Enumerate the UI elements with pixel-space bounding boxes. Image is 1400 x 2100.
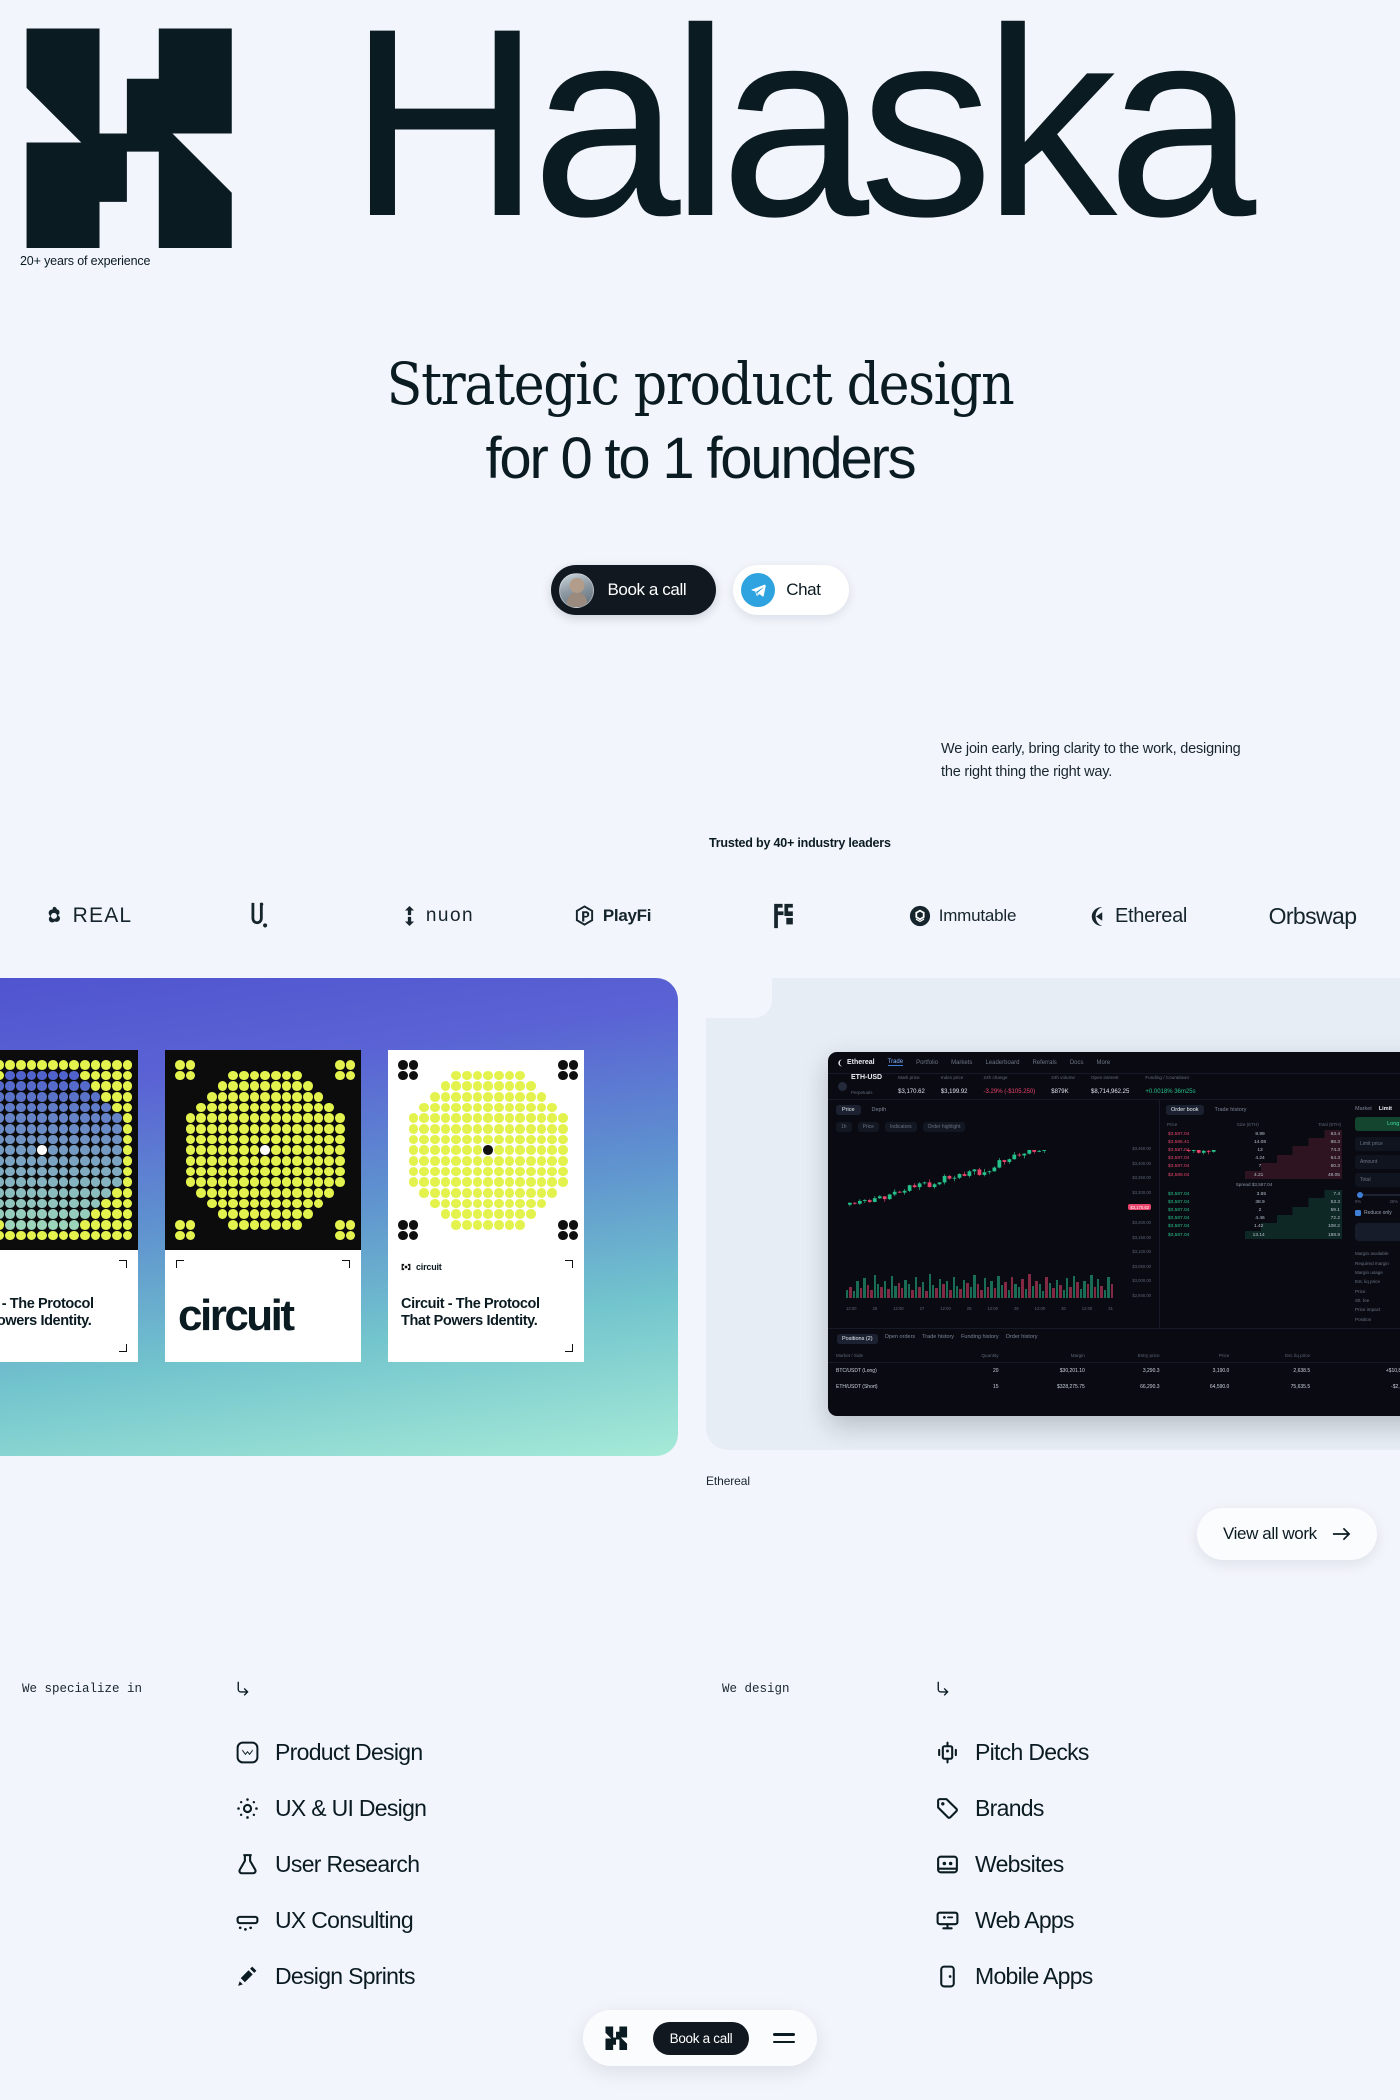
stat-index-price: Index price$3,199.92 [941, 1075, 968, 1098]
tab-price[interactable]: Price [836, 1105, 861, 1115]
amount-field[interactable]: Amount0.00 [1355, 1155, 1400, 1169]
dot [112, 1156, 122, 1166]
tool-order-highlight[interactable]: Order highlight [923, 1122, 966, 1132]
service-item-web-apps[interactable]: Web Apps [934, 1892, 1400, 1948]
tab-trade-history[interactable]: Trade history [1210, 1105, 1252, 1115]
dot [271, 1220, 281, 1230]
dot [101, 1103, 111, 1113]
dot [16, 1199, 26, 1209]
table-header-cell: Market / Side [828, 1349, 941, 1363]
dot [515, 1092, 525, 1102]
dot [228, 1220, 238, 1230]
dot [123, 1092, 133, 1102]
dot [260, 1103, 270, 1113]
dot [547, 1231, 557, 1241]
summary-row: Price [1355, 1287, 1400, 1296]
dot [494, 1177, 504, 1187]
dot [451, 1231, 461, 1241]
volume-bar [984, 1278, 986, 1298]
dot [282, 1167, 292, 1177]
tab-trade-history[interactable]: Trade history [922, 1334, 954, 1344]
dashboard-nav-markets[interactable]: Markets [951, 1060, 972, 1066]
dot [91, 1209, 101, 1219]
dot [5, 1145, 15, 1155]
tab-market[interactable]: Market [1355, 1106, 1372, 1112]
chat-button[interactable]: Chat [733, 565, 848, 615]
dot [123, 1188, 133, 1198]
table-row[interactable]: BTC/USDT (Long) 20 $30,201.10 3,290.3 3,… [828, 1363, 1400, 1380]
volume-bar [860, 1288, 862, 1298]
dot [483, 1177, 493, 1187]
dot [5, 1209, 15, 1219]
ethereal-crescent-icon [837, 1059, 844, 1067]
dot [207, 1135, 217, 1145]
side-toggle: Long Short [1355, 1117, 1400, 1131]
volume-bar [1056, 1280, 1058, 1298]
dot [430, 1220, 440, 1230]
dot [5, 1071, 15, 1081]
order-price: $3,587.04 [1168, 1132, 1189, 1137]
dot [558, 1156, 568, 1166]
dot [80, 1124, 90, 1134]
dot [558, 1092, 568, 1102]
headline-line-1: Strategic product design [70, 348, 1330, 420]
dot [48, 1167, 58, 1177]
dot [186, 1113, 196, 1123]
dot [292, 1177, 302, 1187]
reduce-only-checkbox[interactable]: Reduce only [1355, 1210, 1400, 1216]
client-logo-u [175, 901, 350, 931]
dot [250, 1220, 260, 1230]
dot [314, 1081, 324, 1091]
dot [569, 1124, 579, 1134]
dot [196, 1231, 206, 1241]
dot [515, 1060, 525, 1070]
dot [196, 1092, 206, 1102]
volume-bar [1025, 1289, 1027, 1298]
dot [314, 1103, 324, 1113]
dot [419, 1209, 429, 1219]
dot [558, 1071, 568, 1081]
dot [303, 1188, 313, 1198]
dot [483, 1220, 493, 1230]
volume-bar [884, 1281, 886, 1298]
dot [569, 1177, 579, 1187]
dot [37, 1177, 47, 1187]
services-section: We specialize in Product Design UX & UI … [0, 1680, 1400, 2004]
dot [409, 1081, 419, 1091]
dot [430, 1103, 440, 1113]
dot [48, 1103, 58, 1113]
tab-depth[interactable]: Depth [866, 1105, 893, 1115]
chat-label: Chat [786, 580, 820, 600]
dot [37, 1135, 47, 1145]
dot [69, 1167, 79, 1177]
dot [239, 1060, 249, 1070]
x-axis: 12:0025 12:0027 12:0028 12:0029 12:0030 … [846, 1306, 1113, 1311]
total-field[interactable]: Total0.00 [1355, 1173, 1400, 1187]
bottom-nav-book-button[interactable]: Book a call [653, 2022, 750, 2055]
dashboard-nav-referrals[interactable]: Referrals [1032, 1060, 1056, 1066]
dot [515, 1231, 525, 1241]
tab-open-orders[interactable]: Open orders [885, 1334, 916, 1344]
dot [451, 1081, 461, 1091]
dot [547, 1103, 557, 1113]
dot [292, 1081, 302, 1091]
dot [27, 1135, 37, 1145]
dot [483, 1124, 493, 1134]
dot [462, 1060, 472, 1070]
order-book-row[interactable]: $3,587.04 8.99 63.4 [1166, 1130, 1342, 1138]
volume-bar [1090, 1275, 1092, 1298]
dashboard-nav-docs[interactable]: Docs [1070, 1060, 1084, 1066]
dot [409, 1103, 419, 1113]
dot [228, 1103, 238, 1113]
dot [27, 1177, 37, 1187]
work-card-ethereal[interactable]: Ethereal Trade Portfolio Markets Leaderb… [706, 978, 1400, 1450]
dot [419, 1081, 429, 1091]
dot [515, 1081, 525, 1091]
dot [16, 1167, 26, 1177]
dot [250, 1145, 260, 1155]
side-long-button[interactable]: Long [1355, 1117, 1400, 1131]
dot [80, 1220, 90, 1230]
dot [207, 1156, 217, 1166]
dot [59, 1081, 69, 1091]
dot [398, 1220, 408, 1230]
dot [419, 1092, 429, 1102]
size-slider[interactable] [1357, 1194, 1400, 1196]
service-item-brands[interactable]: Brands [934, 1780, 1400, 1836]
arrow-turn-down-right-icon [934, 1680, 1400, 1698]
dot [346, 1220, 356, 1230]
dot [101, 1220, 111, 1230]
dot [123, 1156, 133, 1166]
dashboard-nav-leaderboard[interactable]: Leaderboard [985, 1060, 1019, 1066]
dot [505, 1199, 515, 1209]
dot [0, 1156, 4, 1166]
dot [282, 1188, 292, 1198]
dot [123, 1060, 133, 1070]
dot [409, 1071, 419, 1081]
order-size: 14.08 [1254, 1140, 1266, 1145]
summary-label: Price impact [1355, 1307, 1380, 1312]
dot [282, 1199, 292, 1209]
dot [27, 1060, 37, 1070]
dot [112, 1145, 122, 1155]
tool-price[interactable]: Price [858, 1122, 879, 1132]
dot [483, 1209, 493, 1219]
dot [451, 1145, 461, 1155]
volume-bar [1001, 1285, 1003, 1298]
dot [0, 1145, 4, 1155]
volume-bar [1049, 1283, 1051, 1298]
service-item-websites[interactable]: Websites [934, 1836, 1400, 1892]
dot [409, 1209, 419, 1219]
dot [16, 1177, 26, 1187]
dot [175, 1177, 185, 1187]
cell-price: 3,190.0 [1168, 1363, 1238, 1380]
dot [91, 1167, 101, 1177]
dot [335, 1156, 345, 1166]
dot [186, 1199, 196, 1209]
dot [218, 1145, 228, 1155]
dot [494, 1060, 504, 1070]
dot [218, 1156, 228, 1166]
dot [441, 1156, 451, 1166]
circuit-mark-icon [401, 1262, 411, 1272]
volume-bar [956, 1286, 958, 1298]
dot [271, 1199, 281, 1209]
dot [228, 1081, 238, 1091]
dot [419, 1188, 429, 1198]
order-size: 4.46 [1255, 1216, 1264, 1221]
tab-limit[interactable]: Limit [1379, 1106, 1392, 1112]
dot [5, 1188, 15, 1198]
dot [515, 1124, 525, 1134]
hamburger-menu-icon[interactable] [773, 2033, 795, 2043]
dot [547, 1209, 557, 1219]
dot [537, 1167, 547, 1177]
volume-bar [880, 1287, 882, 1298]
dot [473, 1124, 483, 1134]
order-size: 3.65 [1257, 1192, 1266, 1197]
arrow-right-icon [1332, 1526, 1351, 1542]
dot [314, 1156, 324, 1166]
order-total: 88.3 [1331, 1140, 1340, 1145]
dot [0, 1188, 4, 1198]
dot [207, 1231, 217, 1241]
table-row[interactable]: ETH/USDT (Short) 15 $328,275.75 66,290.3… [828, 1379, 1400, 1395]
work-caption: Ethereal [706, 1474, 750, 1488]
order-size: 13.14 [1253, 1233, 1265, 1238]
poster-group: circuit Circuit - The Protocol That Powe… [0, 1050, 584, 1362]
order-book-row[interactable]: $3,585.41 14.08 88.3 [1166, 1138, 1342, 1146]
limit-price-field[interactable]: Limit price0.00 [1355, 1137, 1400, 1151]
order-total: 7.4 [1333, 1192, 1340, 1197]
summary-label: Margin usage [1355, 1270, 1383, 1275]
dot [303, 1060, 313, 1070]
service-item-user-research[interactable]: User Research [234, 1836, 700, 1892]
dot [175, 1167, 185, 1177]
volume-bar [853, 1291, 855, 1298]
tool-indicators[interactable]: Indicators [885, 1122, 917, 1132]
dot [207, 1092, 217, 1102]
dashboard-nav-more[interactable]: More [1096, 1060, 1110, 1066]
dot [494, 1145, 504, 1155]
nuon-arrows-icon [401, 906, 418, 926]
dashboard-nav-portfolio[interactable]: Portfolio [916, 1060, 938, 1066]
dot [441, 1124, 451, 1134]
dot [303, 1092, 313, 1102]
dot [123, 1220, 133, 1230]
dot [123, 1177, 133, 1187]
dot [303, 1071, 313, 1081]
dot [37, 1167, 47, 1177]
dot [271, 1209, 281, 1219]
volume-bar [997, 1276, 999, 1298]
cell-price: 64,590.0 [1168, 1379, 1238, 1395]
dot [123, 1113, 133, 1123]
dot [186, 1188, 196, 1198]
tab-order-book[interactable]: Order book [1166, 1105, 1204, 1115]
dot [314, 1124, 324, 1134]
dot [69, 1081, 79, 1091]
dot [101, 1113, 111, 1123]
dot [207, 1188, 217, 1198]
services-column-design: We design Pitch Decks Brands [700, 1680, 1400, 2004]
dot [505, 1220, 515, 1230]
dot [207, 1220, 217, 1230]
cell-entry: 66,290.3 [1093, 1379, 1168, 1395]
volume-bar [911, 1290, 913, 1298]
dot [239, 1220, 249, 1230]
dot [48, 1209, 58, 1219]
dot [462, 1199, 472, 1209]
dot [441, 1199, 451, 1209]
dot [101, 1167, 111, 1177]
service-item-ux-consulting[interactable]: UX Consulting [234, 1892, 700, 1948]
tab-order-history[interactable]: Order history [1006, 1334, 1038, 1344]
work-card-circuit[interactable]: circuit Circuit - The Protocol That Powe… [0, 978, 678, 1456]
dot [462, 1177, 472, 1187]
dot [505, 1060, 515, 1070]
dot [175, 1124, 185, 1134]
volume-bar [915, 1277, 917, 1298]
service-item-product-design[interactable]: Product Design [234, 1724, 700, 1780]
dot [303, 1231, 313, 1241]
tab-funding-history[interactable]: Funding history [961, 1334, 999, 1344]
dot [419, 1135, 429, 1145]
poster-title: Circuit - The Protocol That Powers Ident… [0, 1296, 125, 1330]
dot [526, 1220, 536, 1230]
volume-bar [942, 1284, 944, 1298]
poster-body: circuit Circuit - The Protocol That Powe… [388, 1250, 584, 1362]
dot [346, 1209, 356, 1219]
dashboard-nav-trade[interactable]: Trade [888, 1059, 903, 1066]
order-form: Market Limit Long Short Limit price0.00 … [1348, 1100, 1400, 1328]
volume-bar [1097, 1279, 1099, 1298]
table-header-cell: Price [1168, 1349, 1238, 1363]
dot [526, 1103, 536, 1113]
page-title: Strategic product design for 0 to 1 foun… [0, 348, 1400, 498]
corner-mark [176, 1260, 184, 1268]
dot [451, 1156, 461, 1166]
playfi-hex-icon [574, 905, 595, 928]
dot [239, 1103, 249, 1113]
book-a-call-button[interactable]: Book a call [551, 565, 716, 615]
halaska-mark-icon[interactable] [605, 2026, 629, 2050]
dot [228, 1145, 238, 1155]
dot [303, 1081, 313, 1091]
dot [123, 1199, 133, 1209]
dot [441, 1081, 451, 1091]
client-logo-f [700, 902, 875, 930]
dot [196, 1113, 206, 1123]
dot [48, 1113, 58, 1123]
dot [419, 1156, 429, 1166]
service-item-design-sprints[interactable]: Design Sprints [234, 1948, 700, 2004]
dot [462, 1135, 472, 1145]
dot [37, 1220, 47, 1230]
view-all-work-button[interactable]: View all work [1197, 1508, 1377, 1560]
dot [558, 1081, 568, 1091]
dot [430, 1081, 440, 1091]
dot [335, 1124, 345, 1134]
dot [494, 1071, 504, 1081]
place-order-button[interactable]: Place order [1355, 1223, 1400, 1241]
dot [462, 1231, 472, 1241]
dot [292, 1156, 302, 1166]
dot [27, 1156, 37, 1166]
dot [494, 1156, 504, 1166]
dot [558, 1177, 568, 1187]
dot [314, 1188, 324, 1198]
pair-selector[interactable]: ETH-USD Perpetuals [838, 1074, 882, 1099]
dot [218, 1092, 228, 1102]
dot [260, 1135, 270, 1145]
dot [0, 1124, 4, 1134]
tool-interval[interactable]: 1h [836, 1122, 852, 1132]
order-total: 72.2 [1331, 1216, 1340, 1221]
dot [441, 1103, 451, 1113]
dot [569, 1135, 579, 1145]
volume-bar [1107, 1277, 1109, 1298]
service-item-ux-ui-design[interactable]: UX & UI Design [234, 1780, 700, 1836]
dot [505, 1103, 515, 1113]
dot [303, 1167, 313, 1177]
dot [101, 1135, 111, 1145]
dot [335, 1209, 345, 1219]
dot [186, 1209, 196, 1219]
dot [292, 1220, 302, 1230]
dot [430, 1135, 440, 1145]
dot [324, 1103, 334, 1113]
dot [250, 1177, 260, 1187]
volume-bar [891, 1276, 893, 1298]
service-item-mobile-apps[interactable]: Mobile Apps [934, 1948, 1400, 2004]
dot [494, 1113, 504, 1123]
dot [398, 1167, 408, 1177]
dot [5, 1124, 15, 1134]
dot [314, 1113, 324, 1123]
summary-label: Required margin [1355, 1261, 1389, 1266]
dot [48, 1135, 58, 1145]
dot [483, 1156, 493, 1166]
summary-row: Margin usage [1355, 1268, 1400, 1277]
volume-bar [959, 1289, 961, 1298]
dot [0, 1220, 4, 1230]
pitch-decks-icon [934, 1739, 960, 1765]
dot [441, 1092, 451, 1102]
volume-bar [1073, 1276, 1075, 1298]
volume-bar [1032, 1286, 1034, 1298]
dot [59, 1167, 69, 1177]
dot [292, 1071, 302, 1081]
dot [303, 1145, 313, 1155]
dot [398, 1156, 408, 1166]
table-header-cell: Est. PnL [1318, 1349, 1400, 1363]
service-item-pitch-decks[interactable]: Pitch Decks [934, 1724, 1400, 1780]
dot [186, 1103, 196, 1113]
dot [314, 1135, 324, 1145]
card-notch [706, 978, 772, 1018]
tab-positions[interactable]: Positions (2) [837, 1334, 878, 1344]
dot [101, 1145, 111, 1155]
dot [398, 1135, 408, 1145]
dot [526, 1135, 536, 1145]
cell-liq: 75,635.5 [1237, 1379, 1318, 1395]
